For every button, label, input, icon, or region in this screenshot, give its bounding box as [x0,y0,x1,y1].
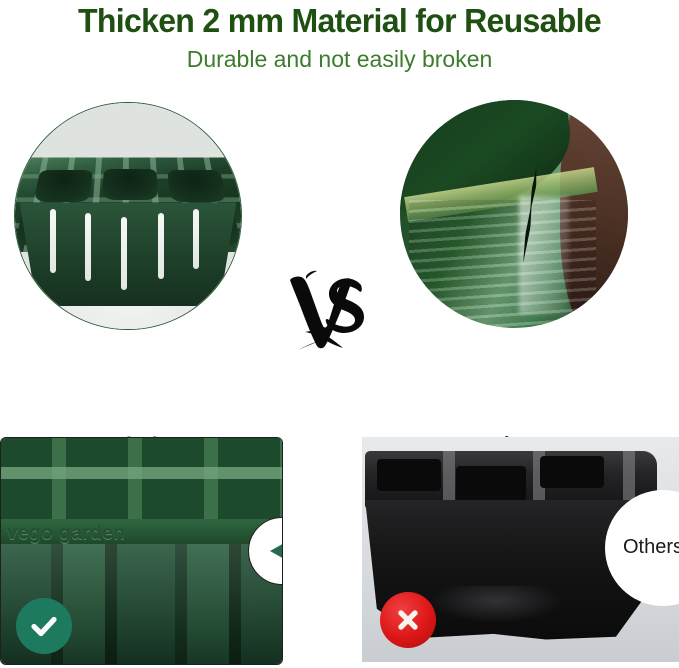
tray-drain-slot [121,217,127,290]
others-callout-label: Others [623,536,679,559]
black-tray-hole [377,459,441,492]
tray-drain-slot [193,209,199,269]
tray-drain-slot [85,213,91,282]
tray-lower-skirt [20,202,237,306]
bottom-comparison-row: vego garden [0,437,679,668]
check-icon [27,609,61,643]
vego-garden-brand-text: vego garden [7,523,125,545]
tray-cell-hole [34,170,93,202]
tray-cell-hole [168,170,228,202]
others-bottom-panel: Others [362,437,679,662]
tray-drain-slot [158,213,164,280]
cross-badge [380,592,436,648]
triangle-left-icon [270,534,283,568]
check-badge [16,598,72,654]
green-tray-photo [15,103,241,329]
page-subtitle: Durable and not easily broken [0,46,679,73]
pot-specular-highlight [519,196,569,315]
ours-circle-photo [14,102,242,330]
top-comparison-row: Ours-Whole Set Others 0.8mm [0,96,679,406]
tray-drain-slot [50,209,56,273]
others-circle-photo [400,100,628,328]
others-circle-photo-wrap [400,100,628,328]
black-tray-hole [456,466,526,501]
tray-cell-hole [102,169,158,200]
black-tray-deformation [429,586,563,622]
ours-bottom-panel: vego garden [0,437,283,665]
versus-mark [283,264,367,356]
ours-circle-photo-wrap [14,102,242,330]
cracked-pot-photo [400,100,628,328]
cross-icon [391,603,425,637]
page-title: Thicken 2 mm Material for Reusable [10,2,669,40]
infographic-page: Thicken 2 mm Material for Reusable Durab… [0,0,679,668]
black-tray-hole [540,456,604,488]
